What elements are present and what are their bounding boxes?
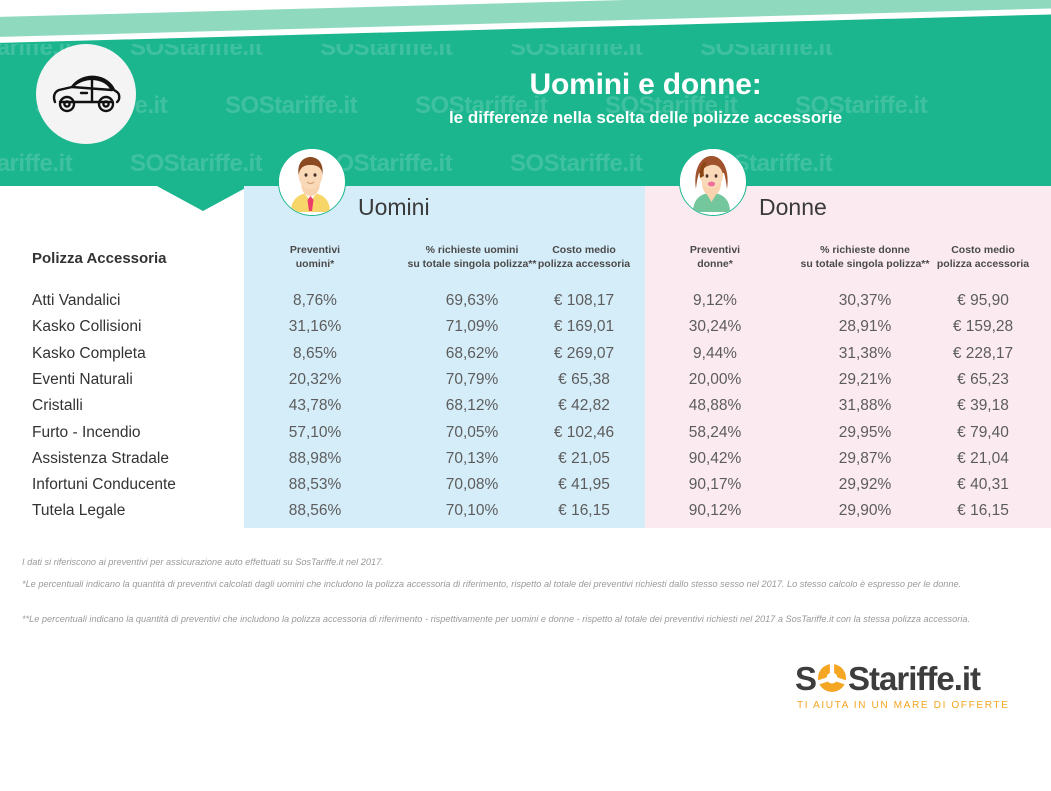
infographic-root: SOStariffe.itSOStariffe.itSOStariffe.itS… [0,0,1051,791]
table-cell-men-quotes: 88,98% [265,450,365,468]
table-cell-women-cost: € 79,40 [918,424,1048,442]
table-cell-women-quotes: 9,44% [665,345,765,363]
policy-row-label: Assistenza Stradale [32,450,169,468]
table-cell-men-quotes: 57,10% [265,424,365,442]
table-cell-women-quotes: 30,24% [665,318,765,336]
table-cell-men-quotes: 31,16% [265,318,365,336]
logo-tagline: TI AIUTA IN UN MARE DI OFFERTE [797,700,1010,711]
table-cell-men-quotes: 8,65% [265,345,365,363]
table-cell-women-cost: € 39,18 [918,397,1048,415]
table-cell-women-cost: € 16,15 [918,502,1048,520]
men-label: Uomini [358,194,430,221]
table-cell-women-quotes: 58,24% [665,424,765,442]
watermark-text: SOStariffe.it [510,150,642,178]
col-header-men-cost: Costo mediopolizza accessoria [519,243,649,271]
page-subtitle: le differenze nella scelta delle polizze… [0,108,1051,128]
watermark-text: SOStariffe.it [130,150,262,178]
table-cell-men-cost: € 16,15 [519,502,649,520]
col-header-men-quotes: Preventiviuomini* [265,243,365,271]
table-cell-men-quotes: 8,76% [265,292,365,310]
policy-row-label: Tutela Legale [32,502,125,520]
table-cell-women-quotes: 90,17% [665,476,765,494]
watermark-text: SOStariffe.it [510,44,642,62]
policy-row-label: Atti Vandalici [32,292,120,310]
table-cell-women-quotes: 48,88% [665,397,765,415]
header-notch [155,185,251,211]
lifebuoy-icon [817,663,847,701]
female-avatar-icon [679,148,747,216]
male-avatar-icon [278,148,346,216]
table-cell-men-quotes: 88,53% [265,476,365,494]
table-cell-women-cost: € 21,04 [918,450,1048,468]
table-cell-women-quotes: 20,00% [665,371,765,389]
table-cell-men-quotes: 88,56% [265,502,365,520]
table-cell-women-cost: € 40,31 [918,476,1048,494]
table-cell-women-quotes: 90,12% [665,502,765,520]
table-cell-women-quotes: 9,12% [665,292,765,310]
policy-column-title: Polizza Accessoria [32,250,167,267]
table-cell-women-cost: € 95,90 [918,292,1048,310]
table-cell-men-cost: € 41,95 [519,476,649,494]
logo-s1: S [795,660,816,697]
table-cell-men-cost: € 21,05 [519,450,649,468]
policy-row-label: Kasko Completa [32,345,146,363]
table-cell-women-quotes: 90,42% [665,450,765,468]
table-cell-men-cost: € 169,01 [519,318,649,336]
table-cell-men-quotes: 43,78% [265,397,365,415]
policy-row-label: Furto - Incendio [32,424,141,442]
women-label: Donne [759,194,827,221]
policy-row-label: Infortuni Conducente [32,476,176,494]
policy-row-label: Cristalli [32,397,83,415]
logo-wordmark: S Stariffe.it [795,660,980,701]
logo-tld: .it [954,660,980,697]
table-cell-men-cost: € 65,38 [519,371,649,389]
table-cell-women-cost: € 65,23 [918,371,1048,389]
car-icon [36,44,136,144]
sostariffe-logo[interactable]: S Stariffe.it TI AIUTA IN UN MARE DI OFF… [795,660,1025,718]
col-header-women-quotes: Preventividonne* [665,243,765,271]
footnote-2: *Le percentuali indicano la quantità di … [22,578,1032,592]
table-cell-men-cost: € 108,17 [519,292,649,310]
table-cell-men-cost: € 42,82 [519,397,649,415]
page-title: Uomini e donne: [0,68,1051,102]
footnote-3: **Le percentuali indicano la quantità di… [22,613,1032,627]
table-cell-men-cost: € 102,46 [519,424,649,442]
watermark-text: SOStariffe.it [0,150,72,178]
logo-s2: S [848,660,869,697]
watermark-text: SOStariffe.it [320,44,452,62]
table-cell-men-cost: € 269,07 [519,345,649,363]
col-header-women-cost: Costo mediopolizza accessoria [918,243,1048,271]
watermark-text: SOStariffe.it [700,44,832,62]
policy-row-label: Kasko Collisioni [32,318,141,336]
logo-tariffe: tariffe [869,660,954,697]
table-cell-women-cost: € 228,17 [918,345,1048,363]
table-cell-women-cost: € 159,28 [918,318,1048,336]
footnote-1: I dati si riferiscono ai preventivi per … [22,556,1032,570]
watermark-text: SOStariffe.it [130,44,262,62]
policy-row-label: Eventi Naturali [32,371,133,389]
table-cell-men-quotes: 20,32% [265,371,365,389]
